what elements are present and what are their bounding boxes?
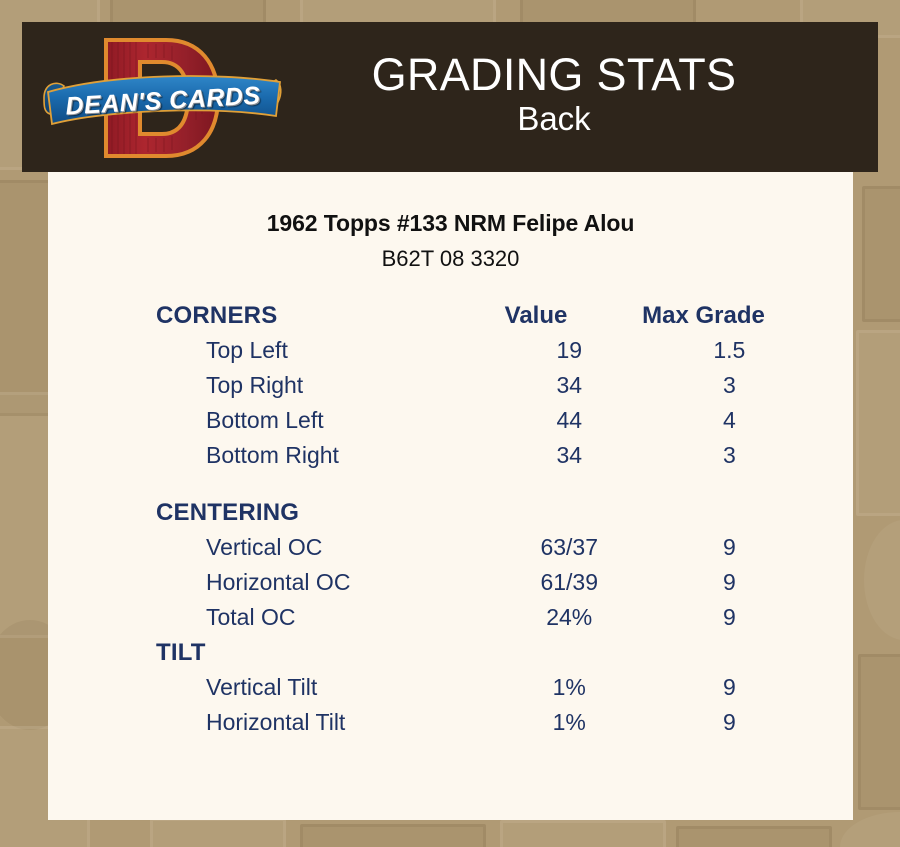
table-row: Bottom Left444 <box>156 407 813 442</box>
row-max-grade: 3 <box>646 372 813 399</box>
row-max-grade: 1.5 <box>646 337 813 364</box>
section-gap <box>156 477 813 499</box>
row-label: Vertical Tilt <box>156 674 493 701</box>
row-value: 1% <box>493 674 646 701</box>
row-max-grade: 9 <box>646 534 813 561</box>
row-label: Top Left <box>156 337 493 364</box>
row-max-grade: 9 <box>646 569 813 596</box>
row-max-grade: 4 <box>646 407 813 434</box>
row-value: 44 <box>493 407 646 434</box>
table-row: Vertical Tilt1%9 <box>156 674 813 709</box>
table-row: Horizontal OC61/399 <box>156 569 813 604</box>
row-value: 34 <box>493 442 646 469</box>
section-title: CENTERING <box>156 499 456 527</box>
header-title-group: GRADING STATS Back <box>290 52 878 141</box>
row-value: 63/37 <box>493 534 646 561</box>
grading-stats-page: DEAN'S CARDS GRADING STATS Back 1962 Top… <box>0 0 900 847</box>
section-header-row-tilt: TILT <box>156 639 813 674</box>
section-title: CORNERS <box>156 302 456 330</box>
card-serial: B62T 08 3320 <box>48 246 853 272</box>
row-max-grade: 9 <box>646 674 813 701</box>
column-header-value: Value <box>456 302 616 330</box>
table-row: Horizontal Tilt1%9 <box>156 709 813 744</box>
row-value: 34 <box>493 372 646 399</box>
table-row: Top Left191.5 <box>156 337 813 372</box>
row-label: Horizontal OC <box>156 569 493 596</box>
card-title: 1962 Topps #133 NRM Felipe Alou <box>48 210 853 237</box>
row-label: Top Right <box>156 372 493 399</box>
table-row: Vertical OC63/379 <box>156 534 813 569</box>
row-label: Bottom Right <box>156 442 493 469</box>
page-subtitle: Back <box>290 98 818 139</box>
deans-cards-logo[interactable]: DEAN'S CARDS <box>22 22 290 172</box>
row-value: 61/39 <box>493 569 646 596</box>
section-header-row-centering: CENTERING <box>156 499 813 534</box>
row-value: 19 <box>493 337 646 364</box>
table-row: Bottom Right343 <box>156 442 813 477</box>
row-max-grade: 9 <box>646 604 813 631</box>
row-label: Vertical OC <box>156 534 493 561</box>
row-label: Horizontal Tilt <box>156 709 493 736</box>
row-value: 1% <box>493 709 646 736</box>
column-header-max-grade: Max Grade <box>616 302 791 330</box>
logo-ribbon-banner-icon: DEAN'S CARDS <box>40 70 286 132</box>
section-title: TILT <box>156 639 456 667</box>
row-label: Total OC <box>156 604 493 631</box>
row-value: 24% <box>493 604 646 631</box>
content-panel: 1962 Topps #133 NRM Felipe Alou B62T 08 … <box>48 172 853 820</box>
row-max-grade: 3 <box>646 442 813 469</box>
table-row: Top Right343 <box>156 372 813 407</box>
table-row: Total OC24%9 <box>156 604 813 639</box>
section-header-row-corners: CORNERSValueMax Grade <box>156 302 813 337</box>
page-header: DEAN'S CARDS GRADING STATS Back <box>22 22 878 172</box>
row-max-grade: 9 <box>646 709 813 736</box>
grading-stats-table: CORNERSValueMax GradeTop Left191.5Top Ri… <box>48 302 853 744</box>
page-title: GRADING STATS <box>290 52 818 98</box>
row-label: Bottom Left <box>156 407 493 434</box>
